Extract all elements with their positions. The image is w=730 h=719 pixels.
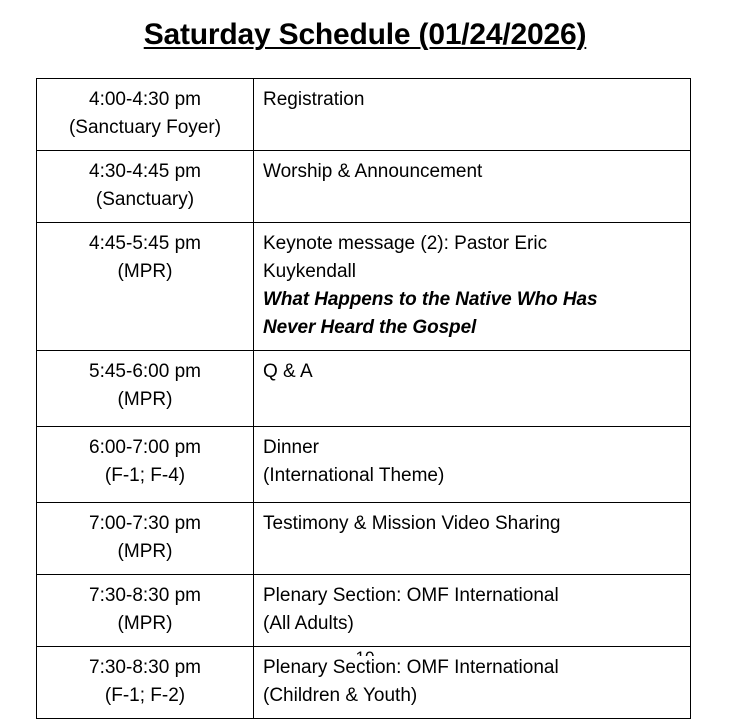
schedule-activity-cell: Dinner (International Theme) [254, 427, 691, 503]
schedule-time-cell: 6:00-7:00 pm (F-1; F-4) [37, 427, 254, 503]
schedule-location: (MPR) [43, 538, 247, 566]
schedule-location: (Sanctuary) [43, 186, 247, 214]
schedule-activity-line: (International Theme) [263, 462, 682, 490]
schedule-activity-line: (All Adults) [263, 610, 682, 638]
schedule-activity-cell: Registration [254, 79, 691, 151]
schedule-time: 4:45-5:45 pm [43, 230, 247, 258]
schedule-time: 7:30-8:30 pm [43, 582, 247, 610]
schedule-time-cell: 7:30-8:30 pm (F-1; F-2) [37, 647, 254, 719]
schedule-location: (MPR) [43, 258, 247, 286]
schedule-location: (F-1; F-2) [43, 682, 247, 710]
table-row: 7:00-7:30 pm (MPR) Testimony & Mission V… [37, 503, 691, 575]
schedule-table-body: 4:00-4:30 pm (Sanctuary Foyer) Registrat… [37, 79, 691, 719]
schedule-activity-line: Keynote message (2): Pastor Eric [263, 230, 682, 258]
schedule-location: (F-1; F-4) [43, 462, 247, 490]
table-row: 4:45-5:45 pm (MPR) Keynote message (2): … [37, 223, 691, 351]
page-title-text: Saturday Schedule (01/24/2026) [144, 18, 587, 51]
schedule-activity-cell: Plenary Section: OMF International (All … [254, 575, 691, 647]
table-row: 7:30-8:30 pm (F-1; F-2) Plenary Section:… [37, 647, 691, 719]
page-number: 10 [0, 648, 730, 656]
table-row: 7:30-8:30 pm (MPR) Plenary Section: OMF … [37, 575, 691, 647]
table-row: 6:00-7:00 pm (F-1; F-4) Dinner (Internat… [37, 427, 691, 503]
schedule-activity-line: Kuykendall [263, 258, 682, 286]
schedule-activity-line: Plenary Section: OMF International [263, 582, 682, 610]
schedule-activity-cell: Worship & Announcement [254, 151, 691, 223]
schedule-time-cell: 4:00-4:30 pm (Sanctuary Foyer) [37, 79, 254, 151]
schedule-time: 7:00-7:30 pm [43, 510, 247, 538]
schedule-time: 6:00-7:00 pm [43, 434, 247, 462]
schedule-sermon-title-line: Never Heard the Gospel [263, 314, 682, 342]
table-row: 5:45-6:00 pm (MPR) Q & A [37, 351, 691, 427]
page-title: Saturday Schedule (01/24/2026) [0, 18, 730, 52]
schedule-sermon-title-line: What Happens to the Native Who Has [263, 286, 682, 314]
schedule-activity-line: Q & A [263, 358, 682, 386]
schedule-activity-cell: Keynote message (2): Pastor Eric Kuykend… [254, 223, 691, 351]
schedule-activity-cell: Q & A [254, 351, 691, 427]
table-row: 4:30-4:45 pm (Sanctuary) Worship & Annou… [37, 151, 691, 223]
schedule-activity-line: Plenary Section: OMF International [263, 654, 682, 682]
schedule-activity-line: Registration [263, 86, 682, 114]
schedule-location: (MPR) [43, 386, 247, 414]
table-row: 4:00-4:30 pm (Sanctuary Foyer) Registrat… [37, 79, 691, 151]
schedule-location: (MPR) [43, 610, 247, 638]
schedule-time-cell: 7:00-7:30 pm (MPR) [37, 503, 254, 575]
schedule-time-cell: 4:30-4:45 pm (Sanctuary) [37, 151, 254, 223]
schedule-activity-line: Worship & Announcement [263, 158, 682, 186]
schedule-time: 7:30-8:30 pm [43, 654, 247, 682]
schedule-activity-line: (Children & Youth) [263, 682, 682, 710]
schedule-time-cell: 5:45-6:00 pm (MPR) [37, 351, 254, 427]
document-page: Saturday Schedule (01/24/2026) 4:00-4:30… [0, 0, 730, 656]
schedule-activity-line: Testimony & Mission Video Sharing [263, 510, 682, 538]
schedule-activity-cell: Plenary Section: OMF International (Chil… [254, 647, 691, 719]
schedule-time: 4:00-4:30 pm [43, 86, 247, 114]
schedule-activity-cell: Testimony & Mission Video Sharing [254, 503, 691, 575]
schedule-activity-line: Dinner [263, 434, 682, 462]
schedule-location: (Sanctuary Foyer) [43, 114, 247, 142]
schedule-time-cell: 4:45-5:45 pm (MPR) [37, 223, 254, 351]
schedule-table: 4:00-4:30 pm (Sanctuary Foyer) Registrat… [36, 78, 691, 719]
schedule-time: 5:45-6:00 pm [43, 358, 247, 386]
schedule-time-cell: 7:30-8:30 pm (MPR) [37, 575, 254, 647]
schedule-time: 4:30-4:45 pm [43, 158, 247, 186]
